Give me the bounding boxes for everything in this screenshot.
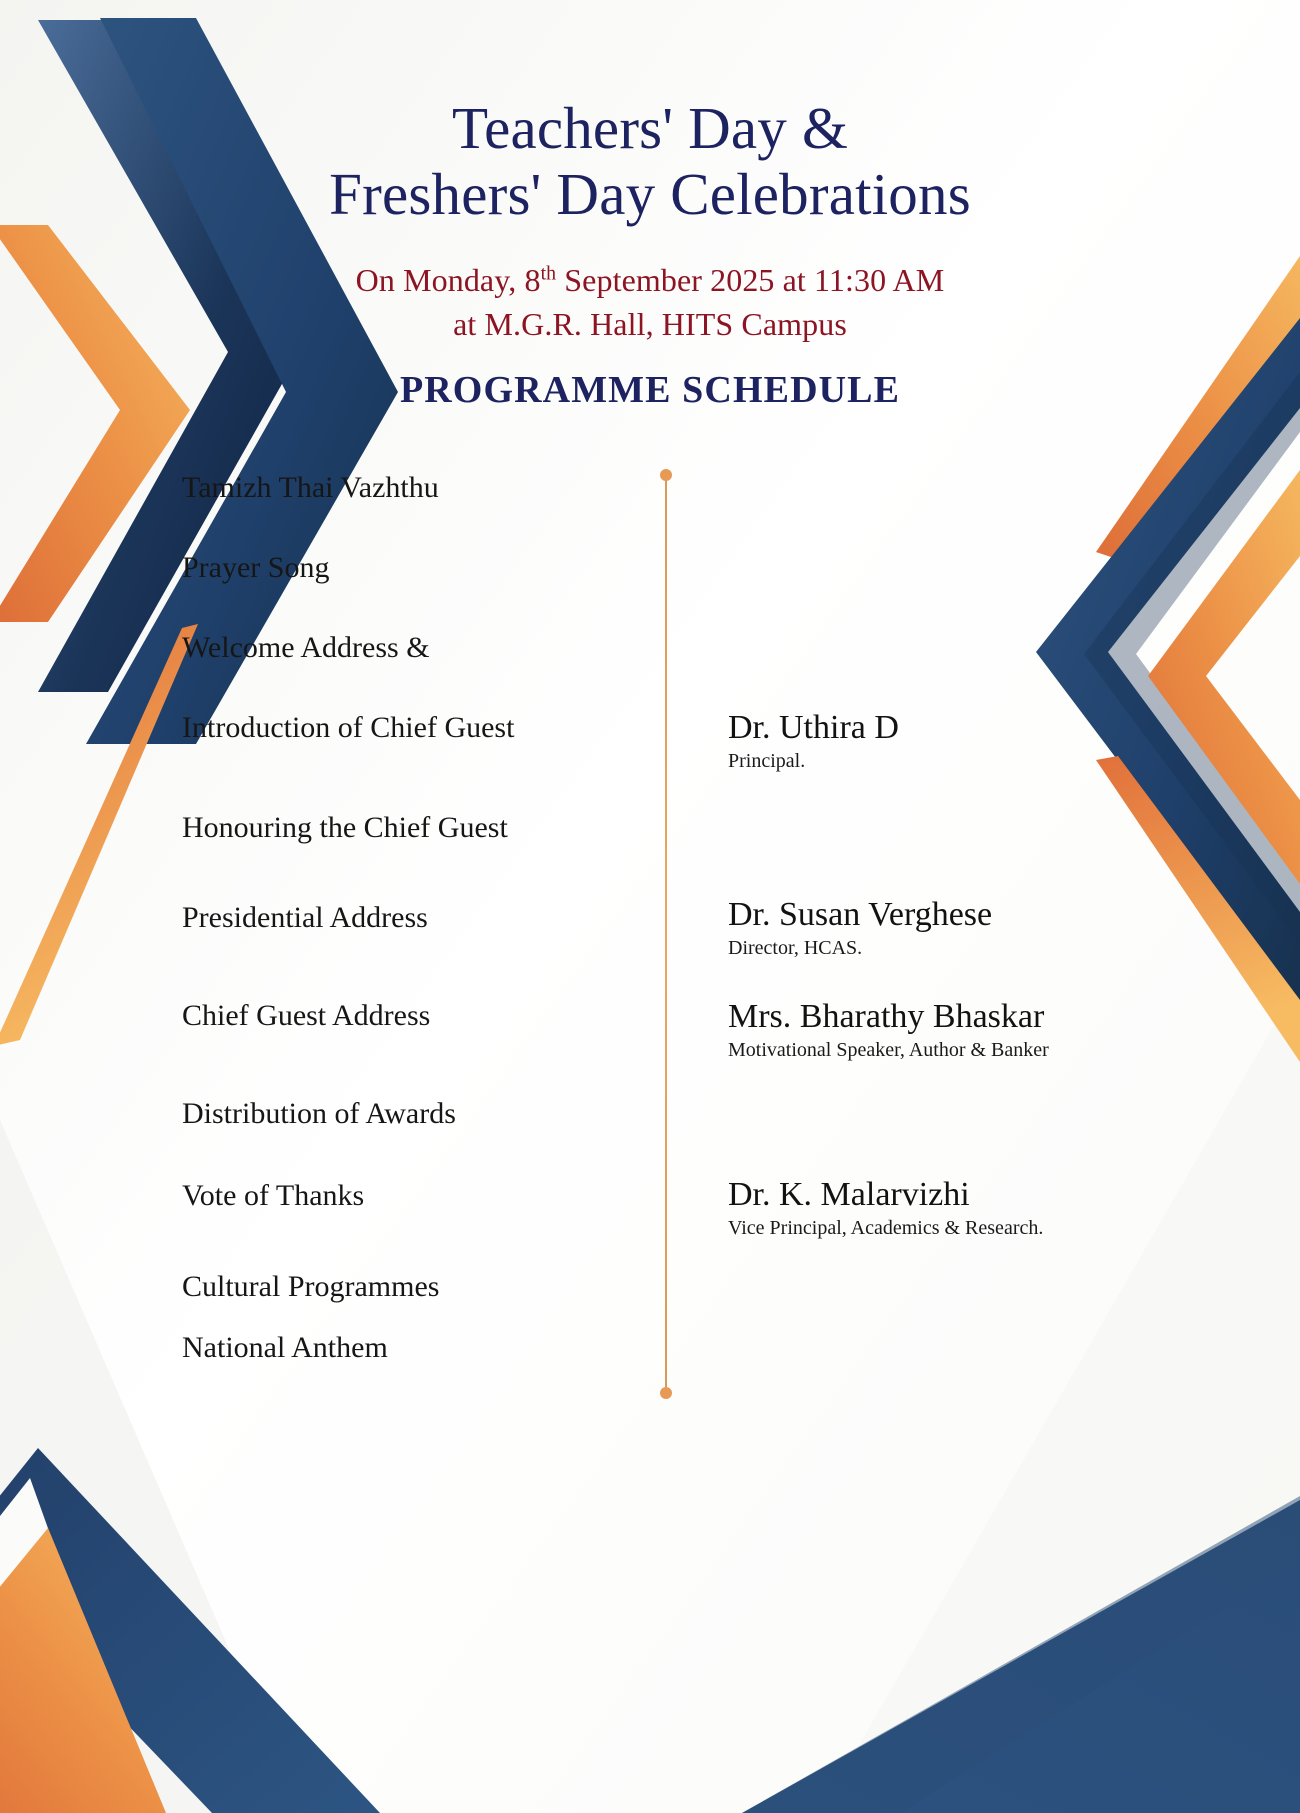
- poster-content: Teachers' Day & Freshers' Day Celebratio…: [0, 0, 1300, 1813]
- date-ordinal: th: [541, 262, 557, 284]
- person-role: Director, HCAS.: [728, 936, 992, 961]
- poster-title: Teachers' Day & Freshers' Day Celebratio…: [0, 95, 1300, 227]
- programme-item: Tamizh Thai Vazhthu: [182, 470, 439, 506]
- event-venue: at M.G.R. Hall, HITS Campus: [0, 302, 1300, 346]
- person-name: Dr. Uthira D: [728, 708, 899, 747]
- programme-schedule: Tamizh Thai Vazhthu Prayer Song Welcome …: [0, 455, 1300, 1415]
- event-datetime-venue: On Monday, 8th September 2025 at 11:30 A…: [0, 258, 1300, 346]
- person-entry: Mrs. Bharathy Bhaskar Motivational Speak…: [728, 997, 1049, 1063]
- programme-item: Honouring the Chief Guest: [182, 810, 508, 846]
- person-name: Mrs. Bharathy Bhaskar: [728, 997, 1049, 1036]
- programme-item: Vote of Thanks: [182, 1178, 364, 1214]
- date-prefix: On Monday, 8: [356, 262, 541, 298]
- vertical-divider: [665, 475, 667, 1395]
- title-line-1: Teachers' Day &: [0, 95, 1300, 161]
- title-line-2: Freshers' Day Celebrations: [0, 161, 1300, 227]
- programme-item: Presidential Address: [182, 900, 428, 936]
- programme-item: Distribution of Awards: [182, 1096, 456, 1132]
- divider-dot-top: [660, 469, 672, 481]
- person-role: Motivational Speaker, Author & Banker: [728, 1038, 1049, 1063]
- person-entry: Dr. K. Malarvizhi Vice Principal, Academ…: [728, 1175, 1043, 1241]
- person-role: Vice Principal, Academics & Research.: [728, 1216, 1043, 1241]
- event-datetime: On Monday, 8th September 2025 at 11:30 A…: [0, 258, 1300, 302]
- person-name: Dr. K. Malarvizhi: [728, 1175, 1043, 1214]
- person-role: Principal.: [728, 749, 899, 774]
- person-entry: Dr. Uthira D Principal.: [728, 708, 899, 774]
- programme-item: Introduction of Chief Guest: [182, 710, 514, 746]
- section-heading-programme-schedule: PROGRAMME SCHEDULE: [0, 368, 1300, 412]
- divider-dot-bottom: [660, 1387, 672, 1399]
- date-suffix: September 2025 at 11:30 AM: [556, 262, 944, 298]
- person-name: Dr. Susan Verghese: [728, 895, 992, 934]
- programme-item: Chief Guest Address: [182, 998, 430, 1034]
- programme-item: Prayer Song: [182, 550, 329, 586]
- programme-item: Cultural Programmes: [182, 1269, 439, 1305]
- invitation-poster: Teachers' Day & Freshers' Day Celebratio…: [0, 0, 1300, 1813]
- programme-item: Welcome Address &: [182, 630, 430, 666]
- person-entry: Dr. Susan Verghese Director, HCAS.: [728, 895, 992, 961]
- programme-item: National Anthem: [182, 1330, 388, 1366]
